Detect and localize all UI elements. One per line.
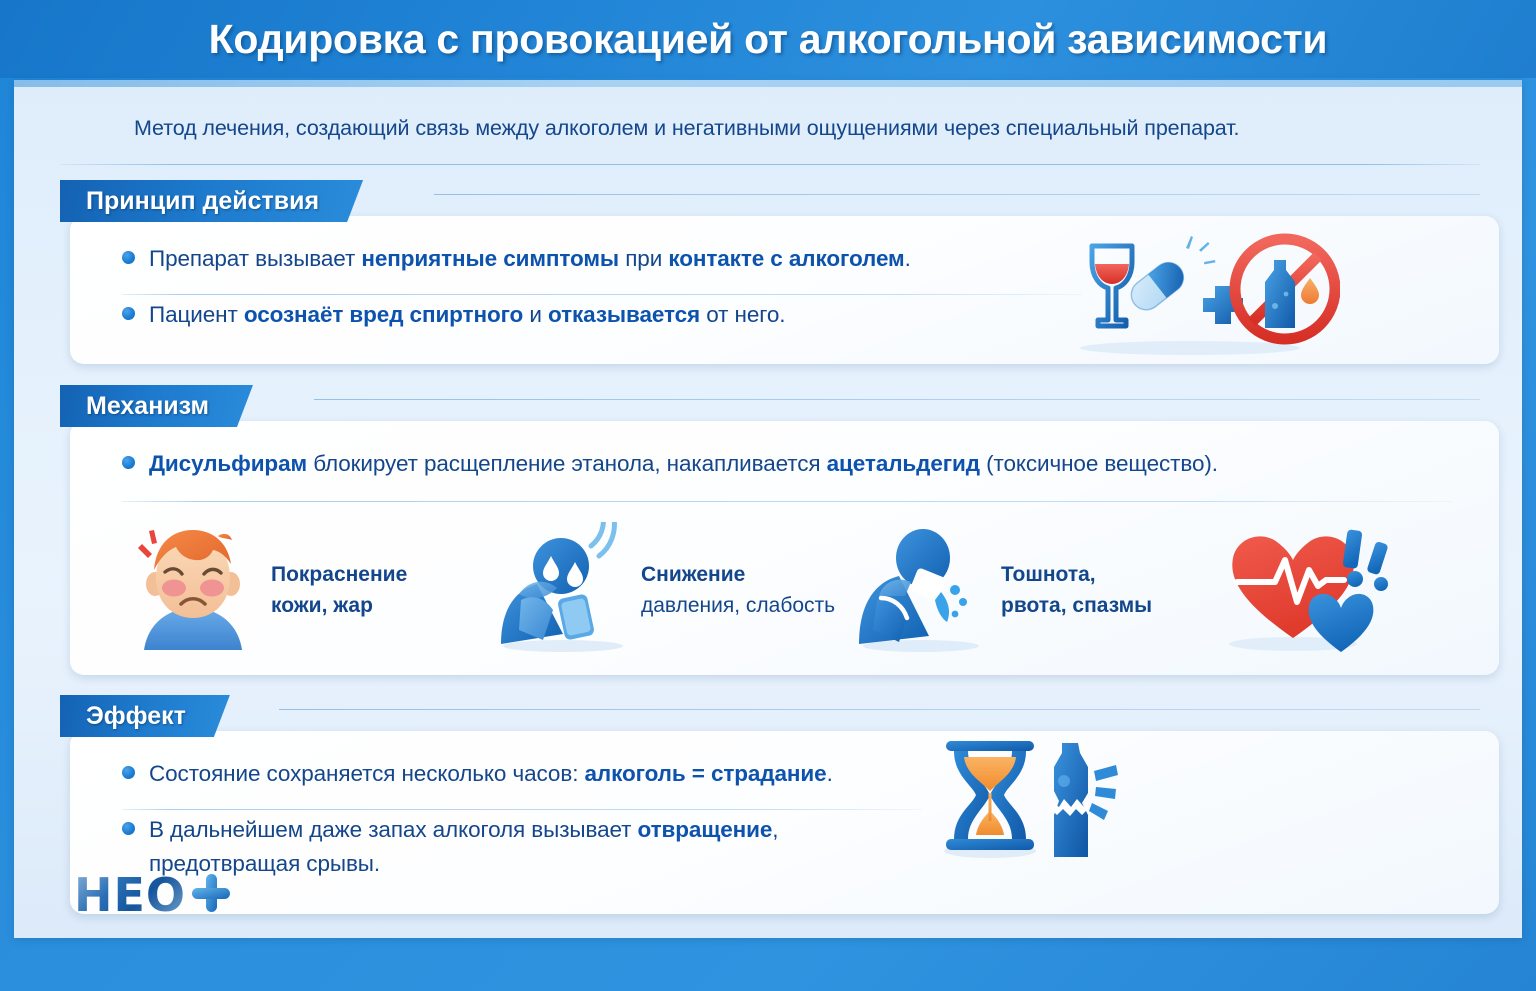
wine-pill-no-bottle-icon xyxy=(1070,220,1340,360)
weak-person-sweating-icon xyxy=(491,522,631,657)
bullet-divider xyxy=(122,501,1452,502)
tab-rule-effect xyxy=(279,709,1480,710)
page-title: Кодировка с провокацией от алкогольной з… xyxy=(209,16,1328,63)
bullet-dot-icon xyxy=(122,307,135,320)
tab-rule-mechanism xyxy=(314,399,1480,400)
symptom-label: Покраснение кожи, жар xyxy=(271,559,407,621)
card-effect: Состояние сохраняется несколько часов: а… xyxy=(70,731,1499,914)
tab-rule-principle xyxy=(434,194,1480,195)
symptom-strip: Покраснение кожи, жар xyxy=(126,517,1456,662)
bullet-item: Препарат вызывает неприятные симптомы пр… xyxy=(122,242,1122,276)
page-header: Кодировка с провокацией от алкогольной з… xyxy=(0,0,1536,78)
section-tab-effect[interactable]: Эффект xyxy=(60,695,230,737)
bullet-item: Состояние сохраняется несколько часов: а… xyxy=(122,757,982,791)
symptom-item-nausea: Тошнота, рвота, спазмы xyxy=(851,522,1221,657)
bullet-text: В дальнейшем даже запах алкоголя вызывае… xyxy=(149,813,778,881)
symptom-item-heart xyxy=(1221,520,1421,660)
heart-pulse-alert-icon xyxy=(1221,520,1391,660)
section-tab-label: Эффект xyxy=(86,702,186,731)
symptom-line-2: кожи, жар xyxy=(271,590,407,621)
bullet-text: Препарат вызывает неприятные симптомы пр… xyxy=(149,242,911,276)
bullet-dot-icon xyxy=(122,456,135,469)
symptom-label: Тошнота, рвота, спазмы xyxy=(1001,559,1152,621)
bullet-divider xyxy=(122,294,1082,295)
bullet-text: Пациент осознаёт вред спиртного и отказы… xyxy=(149,298,785,332)
panel-top-accent xyxy=(14,80,1522,87)
bullet-item: Пациент осознаёт вред спиртного и отказы… xyxy=(122,298,1122,332)
symptom-item-weakness: Снижение давления, слабость xyxy=(491,522,851,657)
intro-text: Метод лечения, создающий связь между алк… xyxy=(134,116,1454,141)
bullet-item: Дисульфирам блокирует расщепление этанол… xyxy=(122,447,1462,481)
main-panel: Метод лечения, создающий связь между алк… xyxy=(14,80,1522,938)
bullet-dot-icon xyxy=(122,766,135,779)
vomiting-person-icon xyxy=(851,522,991,657)
bullet-dot-icon xyxy=(122,822,135,835)
brand-logo: НЕО xyxy=(74,868,232,922)
symptom-label: Снижение давления, слабость xyxy=(641,559,835,621)
bullet-text: Дисульфирам блокирует расщепление этанол… xyxy=(149,447,1218,481)
flushed-face-icon xyxy=(126,522,261,657)
symptom-line-1: Тошнота, xyxy=(1001,559,1152,590)
symptom-item-redness: Покраснение кожи, жар xyxy=(126,522,491,657)
bullet-dot-icon xyxy=(122,251,135,264)
symptom-line-2: рвота, спазмы xyxy=(1001,590,1152,621)
hourglass-broken-bottle-icon xyxy=(920,731,1130,861)
bullet-item: В дальнейшем даже запах алкоголя вызывае… xyxy=(122,813,982,881)
card-mechanism: Дисульфирам блокирует расщепление этанол… xyxy=(70,421,1499,675)
section-tab-mechanism[interactable]: Механизм xyxy=(60,385,253,427)
logo-text: НЕО xyxy=(74,868,186,922)
section-tab-label: Механизм xyxy=(86,392,209,421)
card-principle: Препарат вызывает неприятные симптомы пр… xyxy=(70,216,1499,364)
logo-plus-icon xyxy=(190,872,232,919)
section-tab-label: Принцип действия xyxy=(86,187,319,216)
bullet-divider xyxy=(122,809,922,810)
intro-divider xyxy=(60,164,1480,165)
bullet-text: Состояние сохраняется несколько часов: а… xyxy=(149,757,833,791)
section-tab-principle[interactable]: Принцип действия xyxy=(60,180,363,222)
symptom-line-1: Покраснение xyxy=(271,559,407,590)
symptom-line-1: Снижение xyxy=(641,559,835,590)
symptom-line-2: давления, слабость xyxy=(641,590,835,621)
